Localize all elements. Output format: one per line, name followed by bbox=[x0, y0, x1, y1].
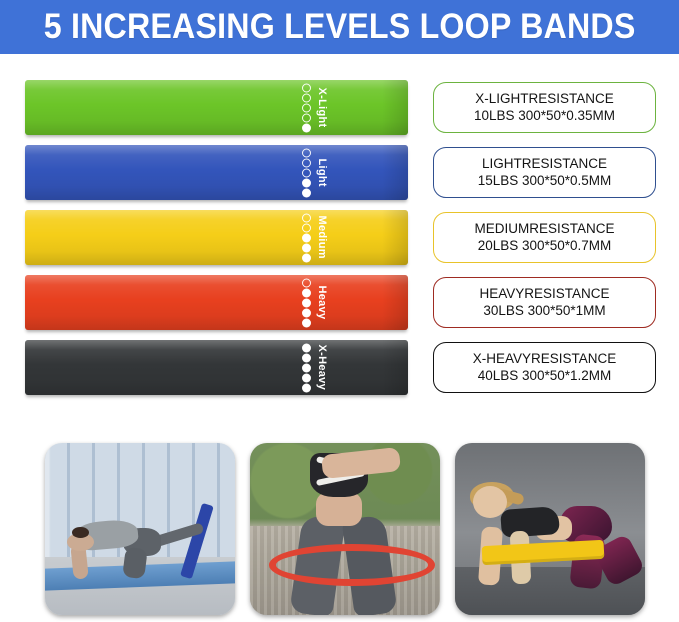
band-level-label: X-Light bbox=[316, 88, 328, 128]
exercising-person bbox=[273, 446, 417, 615]
spec-sub: 10LBS 300*50*0.35MM bbox=[474, 108, 615, 124]
kneeling-leg bbox=[122, 546, 147, 578]
band-marking: Heavy bbox=[302, 278, 328, 327]
dot-filled bbox=[302, 343, 311, 352]
red-band-in-use bbox=[269, 544, 435, 586]
dot-filled bbox=[302, 298, 311, 307]
dot-filled bbox=[302, 363, 311, 372]
page-header: 5 INCREASING LEVELS LOOP BANDS bbox=[0, 0, 679, 56]
midsection bbox=[316, 492, 362, 526]
resistance-band-x-heavy: X-Heavy bbox=[25, 340, 408, 395]
dot bbox=[302, 168, 311, 177]
dot-filled bbox=[302, 353, 311, 362]
spec-title: LIGHTRESISTANCE bbox=[482, 156, 607, 172]
dot bbox=[302, 113, 311, 122]
spec-box-x-light: X-LIGHTRESISTANCE 10LBS 300*50*0.35MM bbox=[433, 82, 656, 133]
resistance-band-x-light: X-Light bbox=[25, 80, 408, 135]
dot bbox=[302, 278, 311, 287]
spec-title: X-HEAVYRESISTANCE bbox=[473, 351, 617, 367]
dot-filled bbox=[302, 233, 311, 242]
band-marking: X-Light bbox=[302, 83, 328, 132]
band-marking: Medium bbox=[302, 213, 328, 262]
sports-top bbox=[500, 506, 560, 538]
resistance-band-medium: Medium bbox=[25, 210, 408, 265]
band-marking: X-Heavy bbox=[302, 343, 328, 392]
resistance-band-heavy: Heavy bbox=[25, 275, 408, 330]
dot-filled bbox=[302, 178, 311, 187]
band-level-label: Heavy bbox=[316, 286, 328, 320]
photo-content bbox=[45, 443, 235, 615]
resistance-band-light: Light bbox=[25, 145, 408, 200]
dot-filled bbox=[302, 288, 311, 297]
level-row: Heavy HEAVYRESISTANCE 30LBS 300*50*1MM bbox=[0, 275, 679, 332]
spec-sub: 15LBS 300*50*0.5MM bbox=[478, 173, 612, 189]
dot-filled bbox=[302, 383, 311, 392]
spec-sub: 40LBS 300*50*1.2MM bbox=[478, 368, 612, 384]
levels-table: X-Light X-LIGHTRESISTANCE 10LBS 300*50*0… bbox=[0, 58, 679, 418]
dot bbox=[302, 223, 311, 232]
dot-filled bbox=[302, 123, 311, 132]
strength-dots bbox=[302, 83, 311, 132]
spec-title: HEAVYRESISTANCE bbox=[479, 286, 609, 302]
dot bbox=[302, 158, 311, 167]
level-row: Medium MEDIUMRESISTANCE 20LBS 300*50*0.7… bbox=[0, 210, 679, 267]
exercising-person bbox=[466, 484, 637, 591]
strength-dots bbox=[302, 148, 311, 197]
page-title: 5 INCREASING LEVELS LOOP BANDS bbox=[44, 7, 636, 47]
spec-title: X-LIGHTRESISTANCE bbox=[475, 91, 614, 107]
photo-studio-plank-yellow-band bbox=[455, 443, 645, 615]
photo-content bbox=[250, 443, 440, 615]
dot-filled bbox=[302, 318, 311, 327]
spec-box-x-heavy: X-HEAVYRESISTANCE 40LBS 300*50*1.2MM bbox=[433, 342, 656, 393]
band-level-label: X-Heavy bbox=[316, 345, 328, 391]
level-row: X-Light X-LIGHTRESISTANCE 10LBS 300*50*0… bbox=[0, 80, 679, 137]
dot bbox=[302, 213, 311, 222]
photo-indoor-donkey-kick-blue-band bbox=[45, 443, 235, 615]
spec-box-heavy: HEAVYRESISTANCE 30LBS 300*50*1MM bbox=[433, 277, 656, 328]
dot-filled bbox=[302, 243, 311, 252]
spec-box-medium: MEDIUMRESISTANCE 20LBS 300*50*0.7MM bbox=[433, 212, 656, 263]
strength-dots bbox=[302, 213, 311, 262]
hair-bun bbox=[72, 527, 88, 538]
dot-filled bbox=[302, 188, 311, 197]
spec-box-light: LIGHTRESISTANCE 15LBS 300*50*0.5MM bbox=[433, 147, 656, 198]
dot-filled bbox=[302, 253, 311, 262]
exercising-person bbox=[64, 498, 201, 581]
dot bbox=[302, 83, 311, 92]
strength-dots bbox=[302, 278, 311, 327]
level-row: X-Heavy X-HEAVYRESISTANCE 40LBS 300*50*1… bbox=[0, 340, 679, 397]
dot bbox=[302, 103, 311, 112]
band-level-label: Light bbox=[316, 158, 328, 186]
band-level-label: Medium bbox=[316, 216, 328, 259]
dot-filled bbox=[302, 308, 311, 317]
dot bbox=[302, 93, 311, 102]
dot-filled bbox=[302, 373, 311, 382]
level-row: Light LIGHTRESISTANCE 15LBS 300*50*0.5MM bbox=[0, 145, 679, 202]
spec-sub: 20LBS 300*50*0.7MM bbox=[478, 238, 612, 254]
photo-outdoor-squat-red-band bbox=[250, 443, 440, 615]
band-marking: Light bbox=[302, 148, 328, 197]
spec-sub: 30LBS 300*50*1MM bbox=[483, 303, 605, 319]
photo-content bbox=[455, 443, 645, 615]
dot bbox=[302, 148, 311, 157]
photo-strip bbox=[0, 443, 679, 622]
spec-title: MEDIUMRESISTANCE bbox=[474, 221, 614, 237]
strength-dots bbox=[302, 343, 311, 392]
